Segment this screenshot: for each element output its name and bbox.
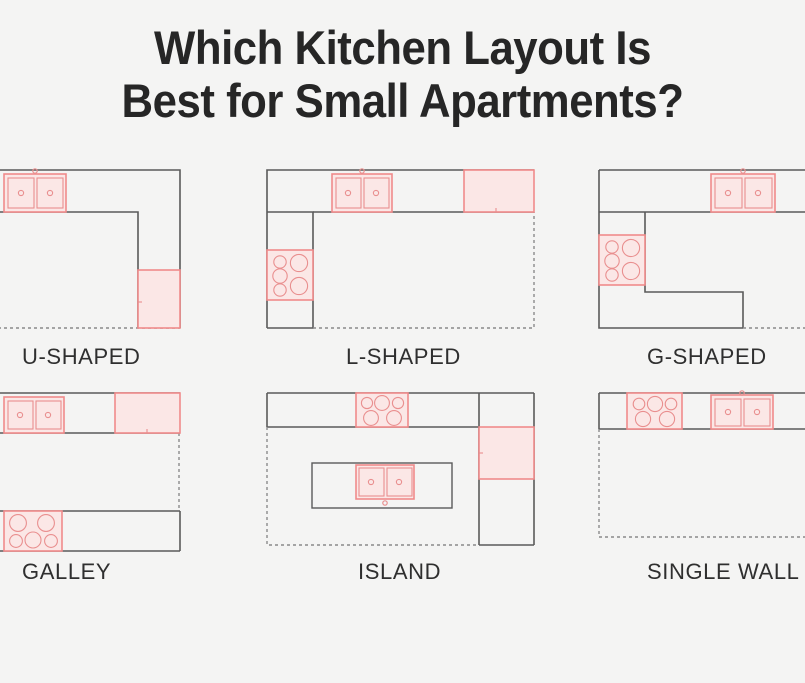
sink-icon — [711, 169, 775, 212]
refrigerator-icon — [464, 170, 534, 212]
single-wall-open-side — [599, 429, 805, 537]
kitchen-layout-infographic: Which Kitchen Layout Is Best for Small A… — [0, 0, 805, 683]
galley-diagram — [0, 385, 220, 555]
g-shaped-diagram — [575, 160, 805, 340]
sink-icon — [332, 169, 392, 212]
layout-label-island: ISLAND — [258, 559, 543, 585]
layout-card-l-shaped[interactable]: L-SHAPED — [258, 160, 543, 370]
cooktop-icon — [356, 393, 408, 427]
cooktop-icon — [267, 250, 313, 300]
page-title: Which Kitchen Layout Is Best for Small A… — [0, 22, 805, 127]
refrigerator-icon — [479, 427, 534, 479]
layout-card-single-wall[interactable]: SINGLE WALL — [575, 385, 805, 585]
layout-card-u-shaped[interactable]: U-SHAPED — [0, 160, 220, 370]
sink-icon — [4, 397, 64, 433]
g-shaped-peninsula-edge — [645, 212, 743, 328]
single-wall-diagram — [575, 385, 805, 555]
layout-card-galley[interactable]: GALLEY — [0, 385, 220, 585]
layout-grid: U-SHAPED — [0, 160, 805, 605]
sink-icon — [356, 465, 414, 505]
cooktop-icon — [4, 511, 62, 551]
refrigerator-icon — [115, 393, 180, 433]
refrigerator-icon — [138, 270, 180, 328]
u-shaped-diagram — [0, 160, 220, 340]
u-shaped-inner-counter-edge — [0, 212, 138, 328]
sink-icon — [711, 391, 773, 429]
layout-card-island[interactable]: ISLAND — [258, 385, 543, 585]
l-shaped-diagram — [258, 160, 543, 340]
title-line-2: Best for Small Apartments? — [28, 75, 777, 128]
layout-label-galley: GALLEY — [0, 559, 220, 585]
layout-label-u-shaped: U-SHAPED — [0, 344, 220, 370]
cooktop-icon — [627, 393, 682, 429]
island-diagram — [258, 385, 543, 555]
title-line-1: Which Kitchen Layout Is — [28, 22, 777, 75]
layout-label-single-wall: SINGLE WALL — [575, 559, 805, 585]
l-shaped-open-side — [313, 212, 534, 328]
layout-card-g-shaped[interactable]: G-SHAPED — [575, 160, 805, 370]
layout-label-g-shaped: G-SHAPED — [575, 344, 805, 370]
sink-icon — [4, 169, 66, 212]
cooktop-icon — [599, 235, 645, 285]
layout-label-l-shaped: L-SHAPED — [258, 344, 543, 370]
